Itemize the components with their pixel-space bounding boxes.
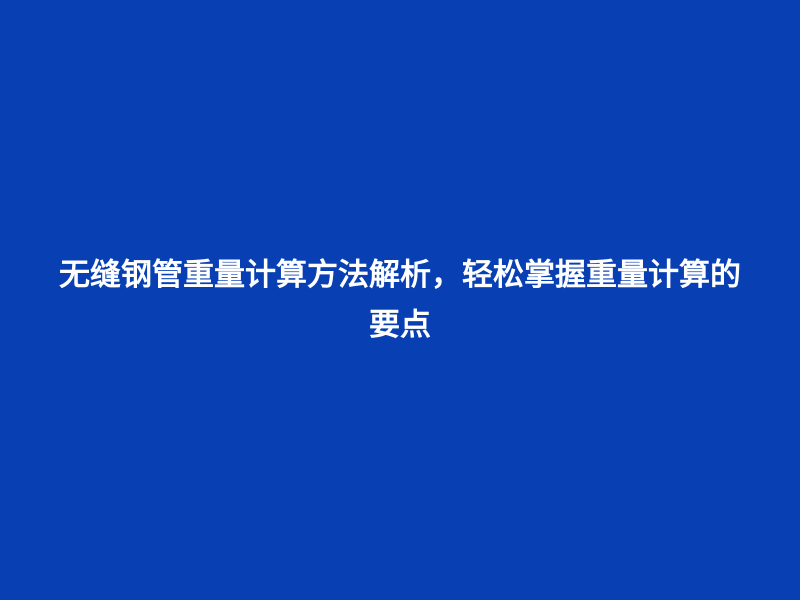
headline-block: 无缝钢管重量计算方法解析，轻松掌握重量计算的要点 <box>50 250 750 350</box>
title-card: 无缝钢管重量计算方法解析，轻松掌握重量计算的要点 <box>0 0 800 600</box>
page-title: 无缝钢管重量计算方法解析，轻松掌握重量计算的要点 <box>50 250 750 350</box>
